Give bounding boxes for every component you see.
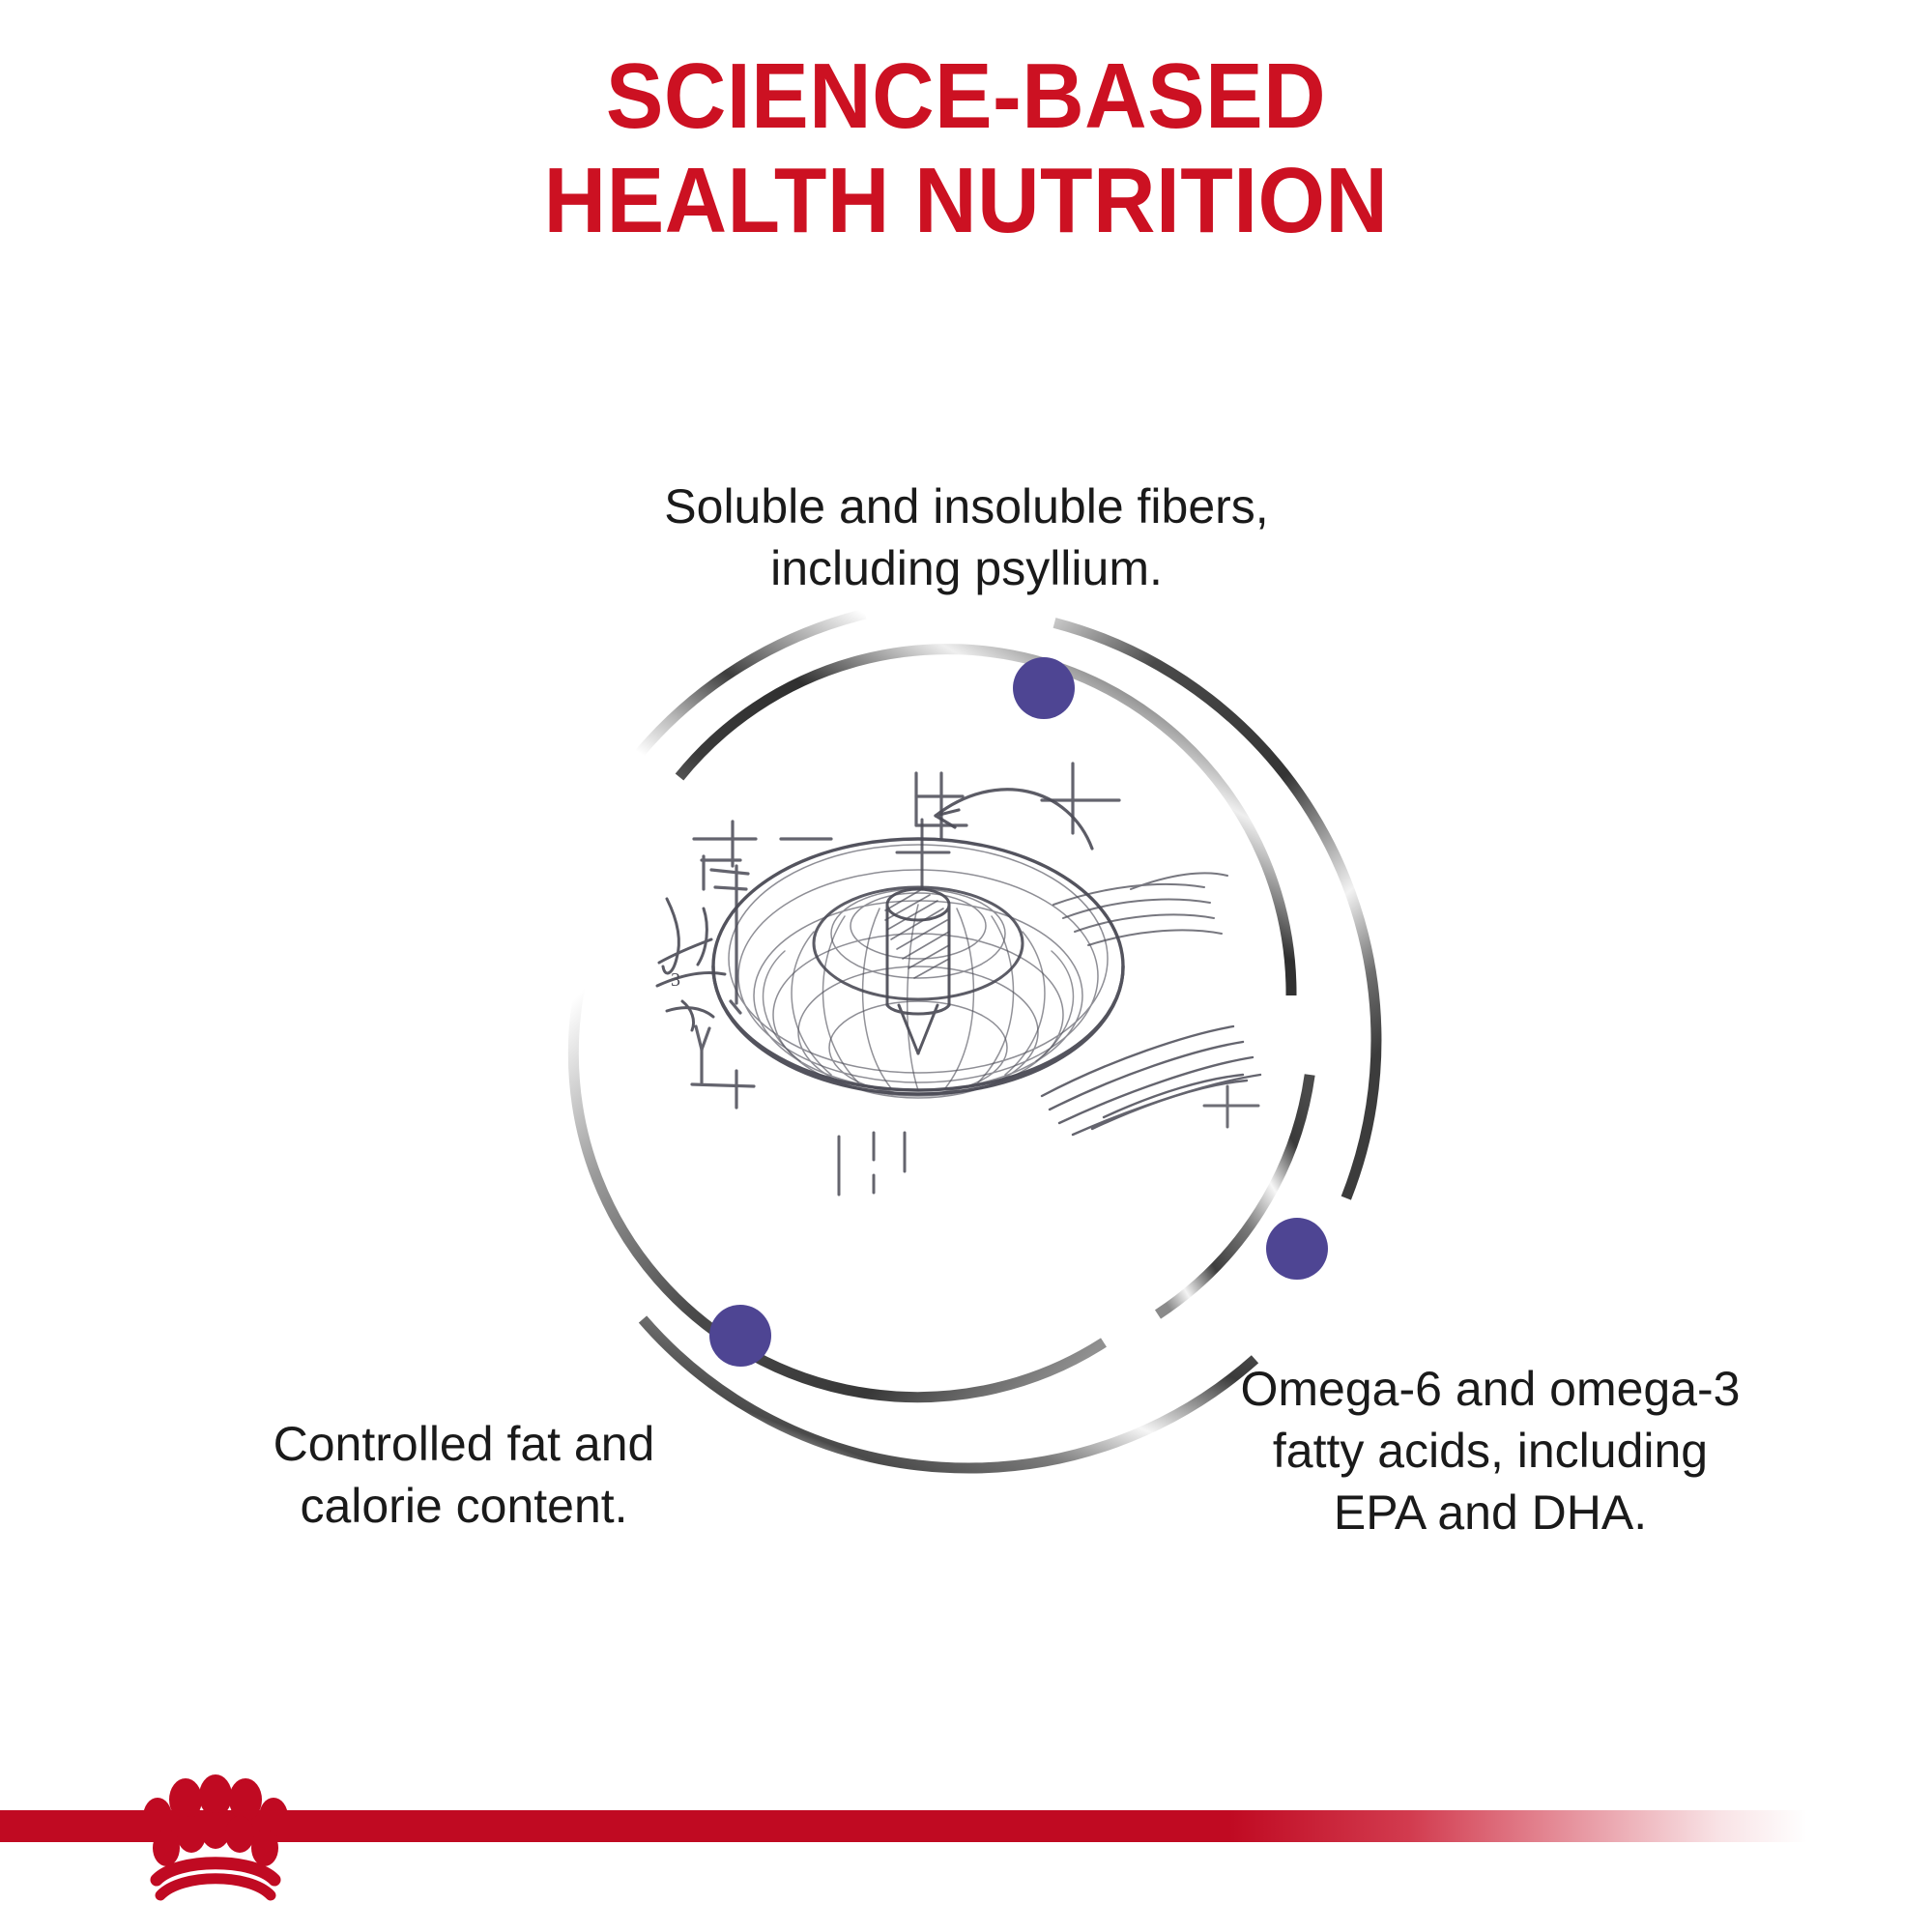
inner-ring-arc-bottom-left xyxy=(573,829,1104,1398)
crown-dots xyxy=(143,1774,288,1866)
benefit-dot-fiber[interactable] xyxy=(1013,657,1075,719)
benefit-dot-omega[interactable] xyxy=(1266,1218,1328,1280)
page-title-line-1: SCIENCE-BASED xyxy=(68,44,1864,149)
kibble-technical-sketch: 3 xyxy=(657,764,1260,1195)
inner-ring-arcs xyxy=(573,649,1310,1398)
outer-ring-arc-upper-left xyxy=(640,614,865,753)
dimension-marks-top xyxy=(916,764,1119,839)
page-root: SCIENCE-BASED HEALTH NUTRITION Soluble a… xyxy=(0,0,1932,1932)
crown-arcs xyxy=(157,1863,274,1895)
royal-canin-crown-icon xyxy=(114,1774,317,1910)
dimension-marks-right xyxy=(1204,1086,1258,1127)
inner-ring-arc-right-lower xyxy=(1158,1075,1310,1314)
kibble-wireframe-longitudes xyxy=(764,905,1074,1090)
motion-scribbles-upper xyxy=(1053,873,1227,945)
rotation-arrow xyxy=(936,790,1092,849)
annotation-number: 3 xyxy=(671,969,680,991)
page-title: SCIENCE-BASED HEALTH NUTRITION xyxy=(0,44,1932,252)
benefits-ring-diagram: 3 xyxy=(512,580,1421,1488)
page-title-line-2: HEALTH NUTRITION xyxy=(68,149,1864,253)
benefit-dot-fat[interactable] xyxy=(709,1305,771,1367)
dimension-marks-bottom xyxy=(839,1133,905,1195)
